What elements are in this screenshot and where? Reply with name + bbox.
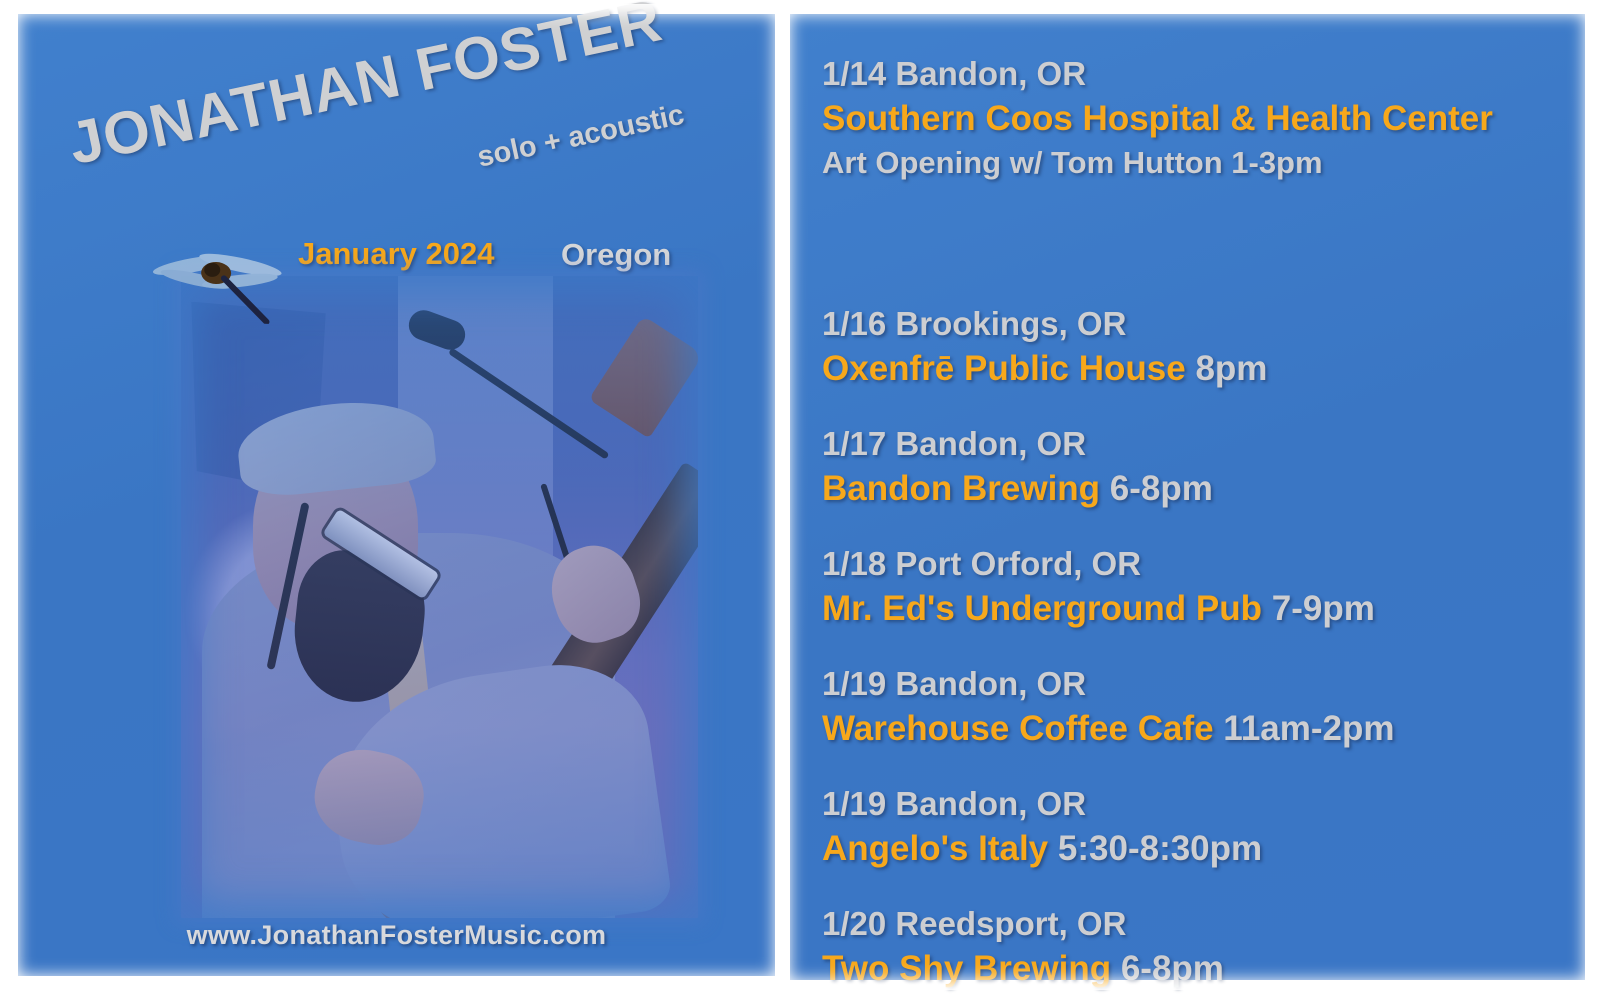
event-date-city: 1/20 Reedsport, OR	[822, 902, 1575, 946]
artist-photo	[181, 276, 698, 918]
event-time: 8pm	[1195, 349, 1267, 388]
tour-date-item: 1/18 Port Orford, OR Mr. Ed's Undergroun…	[822, 542, 1575, 632]
event-venue-name: Warehouse Coffee Cafe	[822, 709, 1214, 748]
event-venue: Two Shy Brewing 6-8pm	[822, 946, 1575, 992]
event-venue: Mr. Ed's Underground Pub 7-9pm	[822, 586, 1575, 632]
event-venue-name: Bandon Brewing	[822, 469, 1100, 508]
event-venue-name: Two Shy Brewing	[822, 949, 1111, 988]
dragonfly-icon	[138, 229, 291, 324]
event-date-city: 1/16 Brookings, OR	[822, 302, 1575, 346]
event-venue-name: Mr. Ed's Underground Pub	[822, 589, 1262, 628]
tour-date-item: 1/14 Bandon, OR Southern Coos Hospital &…	[822, 52, 1575, 184]
event-venue: Bandon Brewing 6-8pm	[822, 466, 1575, 512]
tour-date-item: 1/16 Brookings, OR Oxenfrē Public House …	[822, 302, 1575, 392]
event-venue-name: Southern Coos Hospital & Health Center	[822, 99, 1493, 138]
event-venue: Southern Coos Hospital & Health Center	[822, 96, 1575, 142]
event-date-city: 1/19 Bandon, OR	[822, 662, 1575, 706]
website-url: www.JonathanFosterMusic.com	[18, 920, 775, 951]
event-date-city: 1/17 Bandon, OR	[822, 422, 1575, 466]
event-time: 5:30-8:30pm	[1058, 829, 1262, 868]
artist-name: JONATHAN FOSTER	[63, 0, 723, 178]
tour-date-list: 1/14 Bandon, OR Southern Coos Hospital &…	[822, 52, 1575, 992]
photo-edge-fade	[181, 276, 698, 918]
poster-left-panel: JONATHAN FOSTER solo + acoustic January …	[18, 14, 775, 976]
event-venue: Warehouse Coffee Cafe 11am-2pm	[822, 706, 1575, 752]
event-time: 11am-2pm	[1223, 709, 1394, 748]
event-note: Art Opening w/ Tom Hutton 1-3pm	[822, 142, 1575, 184]
tour-month-label: January 2024	[298, 236, 494, 272]
event-time: 6-8pm	[1121, 949, 1224, 988]
event-date-city: 1/18 Port Orford, OR	[822, 542, 1575, 586]
tour-date-item: 1/19 Bandon, OR Angelo's Italy 5:30-8:30…	[822, 782, 1575, 872]
event-date-city: 1/14 Bandon, OR	[822, 52, 1575, 96]
event-venue: Oxenfrē Public House 8pm	[822, 346, 1575, 392]
event-venue: Angelo's Italy 5:30-8:30pm	[822, 826, 1575, 872]
artist-tagline: solo + acoustic	[475, 99, 688, 175]
tour-date-item: 1/19 Bandon, OR Warehouse Coffee Cafe 11…	[822, 662, 1575, 752]
event-venue-name: Oxenfrē Public House	[822, 349, 1186, 388]
tour-date-item: 1/17 Bandon, OR Bandon Brewing 6-8pm	[822, 422, 1575, 512]
event-date-city: 1/19 Bandon, OR	[822, 782, 1575, 826]
tour-date-item: 1/20 Reedsport, OR Two Shy Brewing 6-8pm	[822, 902, 1575, 992]
poster-right-panel: 1/14 Bandon, OR Southern Coos Hospital &…	[790, 14, 1585, 980]
event-time: 6-8pm	[1110, 469, 1213, 508]
tour-region-line-1: Oregon	[561, 236, 701, 273]
event-time: 7-9pm	[1272, 589, 1375, 628]
event-venue-name: Angelo's Italy	[822, 829, 1048, 868]
